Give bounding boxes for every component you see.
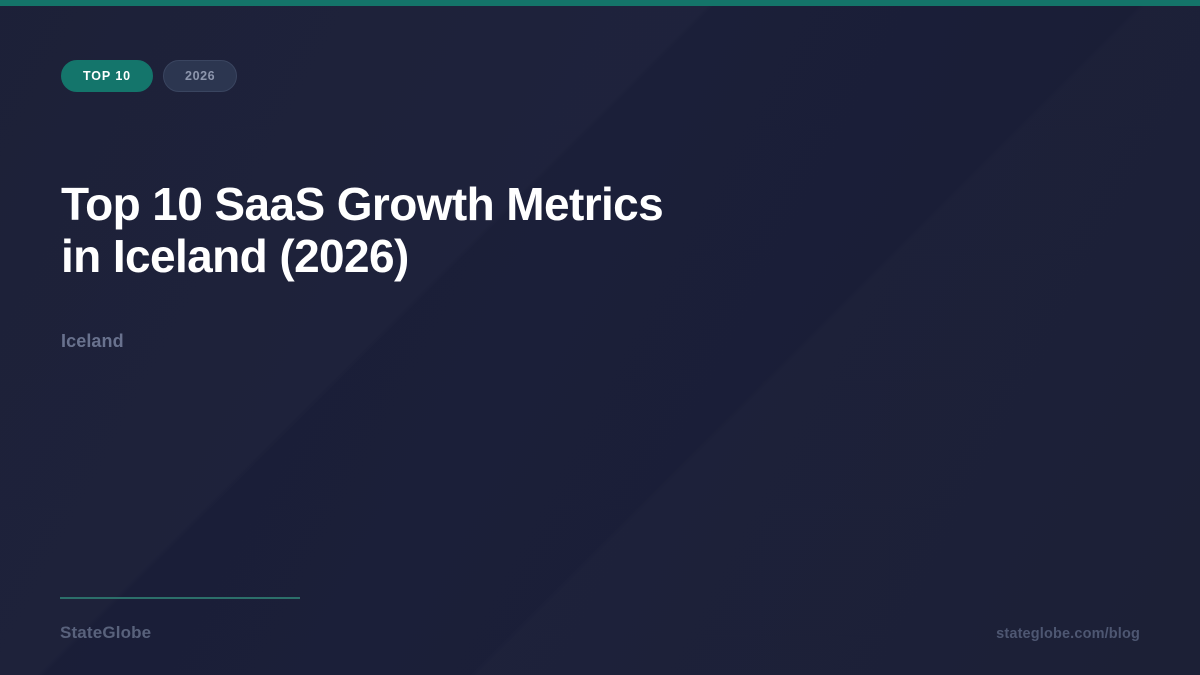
badge-row: TOP 10 2026 [61,60,237,92]
page-title: Top 10 SaaS Growth Metrics in Iceland (2… [61,178,721,282]
badge-year-2026[interactable]: 2026 [163,60,237,92]
page-title-line-2: in Iceland (2026) [61,230,721,282]
badge-top-10[interactable]: TOP 10 [61,60,153,92]
page-title-line-1: Top 10 SaaS Growth Metrics [61,178,721,230]
footer-site-url: stateglobe.com/blog [996,624,1140,644]
slide-canvas: TOP 10 2026 Top 10 SaaS Growth Metrics i… [0,0,1200,675]
page-subtitle: Iceland [61,329,124,353]
top-accent-bar [0,0,1200,6]
footer-divider [60,597,300,599]
footer-brand-name: StateGlobe [60,622,151,644]
